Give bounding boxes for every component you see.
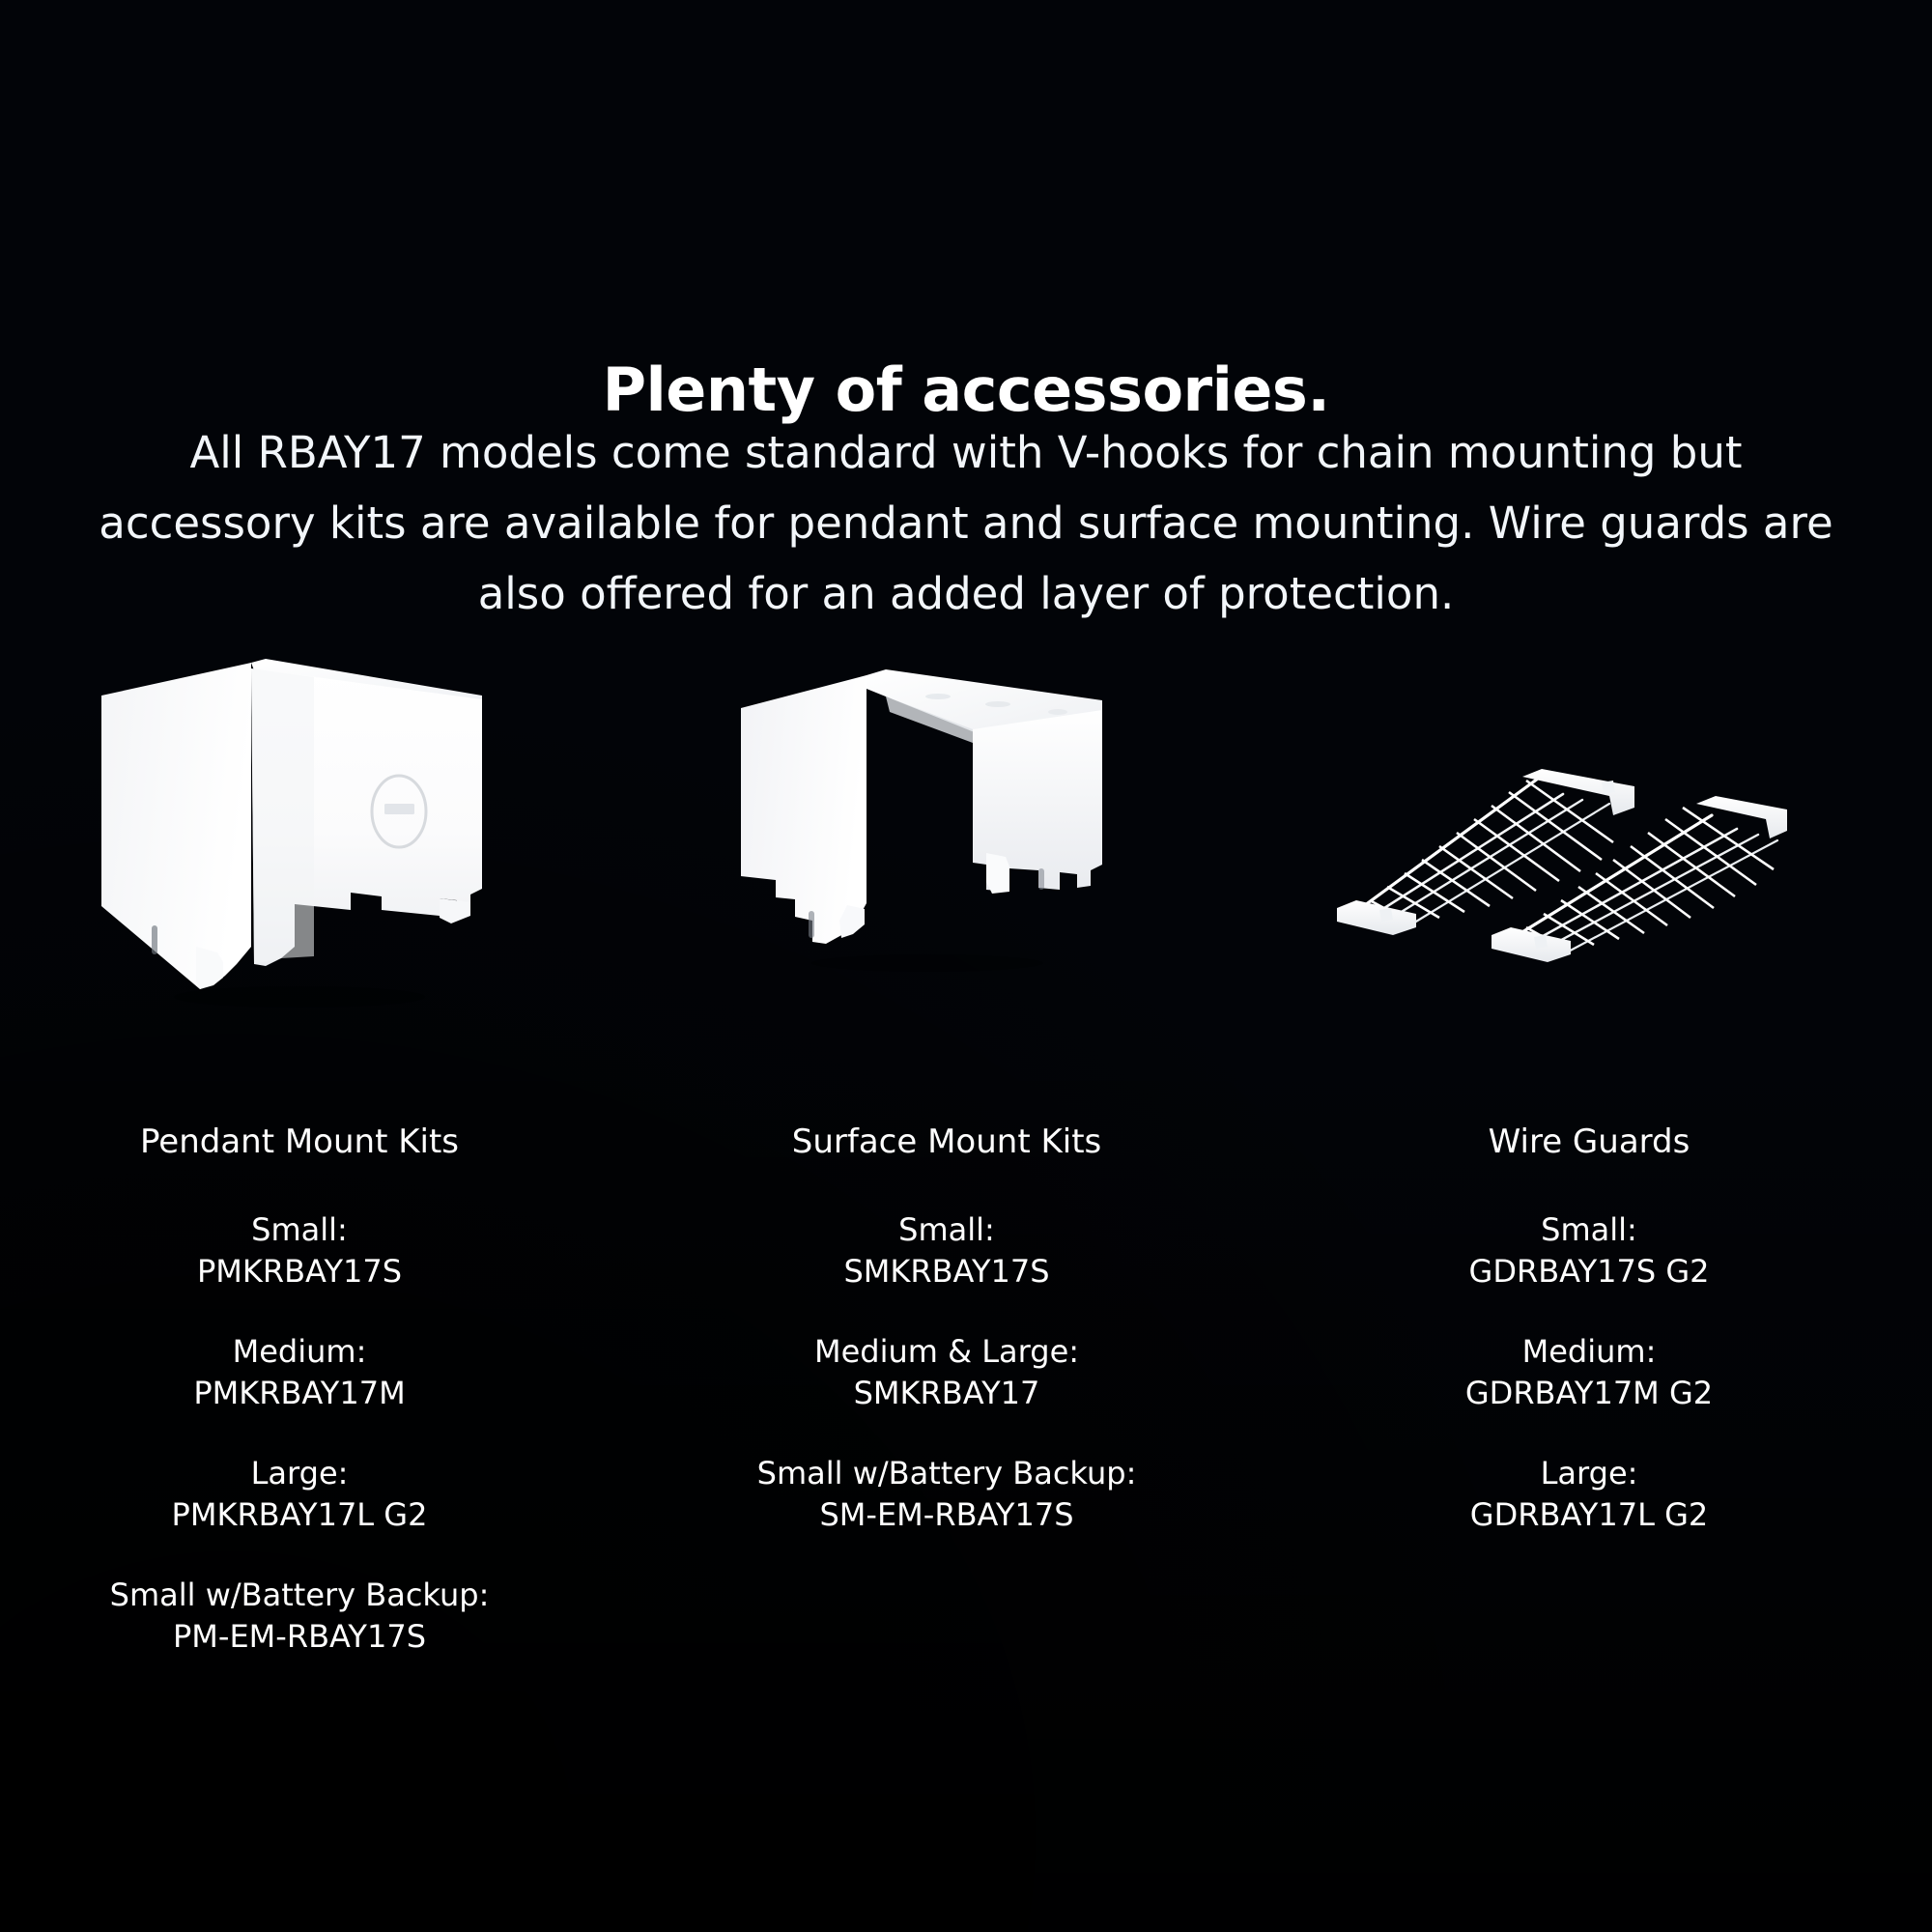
accessory-item: Large: PMKRBAY17L G2	[29, 1453, 570, 1536]
body-line-2: accessory kits are available for pendant…	[77, 488, 1855, 558]
accessory-item: Small w/Battery Backup: PM-EM-RBAY17S	[29, 1575, 570, 1658]
accessory-column-surface: Surface Mount Kits Small: SMKRBAY17S Med…	[676, 1121, 1217, 1575]
accessory-item: Small w/Battery Backup: SM-EM-RBAY17S	[676, 1453, 1217, 1536]
accessory-column-wire-guards: Wire Guards Small: GDRBAY17S G2 Medium: …	[1319, 1121, 1860, 1575]
item-size-label: Small w/Battery Backup:	[676, 1453, 1217, 1494]
column-title-surface: Surface Mount Kits	[676, 1121, 1217, 1163]
body-copy: All RBAY17 models come standard with V-h…	[77, 417, 1855, 629]
item-size-label: Large:	[1319, 1453, 1860, 1494]
item-size-label: Large:	[29, 1453, 570, 1494]
wire-guards-image	[1323, 734, 1787, 989]
surface-right-slot	[1038, 868, 1044, 890]
body-line-1: All RBAY17 models come standard with V-h…	[77, 417, 1855, 488]
accessory-item: Small: PMKRBAY17S	[29, 1209, 570, 1293]
item-sku: PMKRBAY17S	[29, 1251, 570, 1293]
accessory-item: Small: SMKRBAY17S	[676, 1209, 1217, 1293]
item-size-label: Small:	[676, 1209, 1217, 1251]
item-sku: PM-EM-RBAY17S	[29, 1616, 570, 1658]
accessory-item: Large: GDRBAY17L G2	[1319, 1453, 1860, 1536]
wire-guard-panel-2	[1492, 796, 1787, 962]
column-title-pendant: Pendant Mount Kits	[29, 1121, 570, 1163]
item-size-label: Medium:	[29, 1331, 570, 1373]
accessories-slide: Plenty of accessories. All RBAY17 models…	[0, 0, 1932, 1932]
accessory-item: Medium & Large: SMKRBAY17	[676, 1331, 1217, 1414]
accessory-item: Medium: PMKRBAY17M	[29, 1331, 570, 1414]
surface-left-slot	[809, 911, 814, 938]
accessory-item: Small: GDRBAY17S G2	[1319, 1209, 1860, 1293]
item-sku: GDRBAY17S G2	[1319, 1251, 1860, 1293]
item-sku: SMKRBAY17S	[676, 1251, 1217, 1293]
item-size-label: Medium & Large:	[676, 1331, 1217, 1373]
product-image-row	[0, 667, 1932, 1053]
pendant-side-slot	[152, 925, 157, 954]
column-title-wire-guards: Wire Guards	[1319, 1121, 1860, 1163]
item-sku: GDRBAY17M G2	[1319, 1373, 1860, 1414]
page-title: Plenty of accessories.	[0, 355, 1932, 425]
item-sku: PMKRBAY17L G2	[29, 1494, 570, 1536]
wire-guard-endcap-near-2	[1492, 927, 1571, 962]
surface-mount-kit-image	[720, 662, 1106, 1004]
item-size-label: Medium:	[1319, 1331, 1860, 1373]
pendant-mount-kit-image	[92, 657, 497, 1037]
surface-left-plate	[741, 675, 867, 944]
item-size-label: Small:	[29, 1209, 570, 1251]
item-size-label: Small w/Battery Backup:	[29, 1575, 570, 1616]
item-size-label: Small:	[1319, 1209, 1860, 1251]
pendant-knockout-slot	[384, 804, 414, 814]
item-sku: SMKRBAY17	[676, 1373, 1217, 1414]
item-sku: GDRBAY17L G2	[1319, 1494, 1860, 1536]
item-sku: PMKRBAY17M	[29, 1373, 570, 1414]
item-sku: SM-EM-RBAY17S	[676, 1494, 1217, 1536]
accessory-item: Medium: GDRBAY17M G2	[1319, 1331, 1860, 1414]
accessory-column-pendant: Pendant Mount Kits Small: PMKRBAY17S Med…	[29, 1121, 570, 1696]
wire-guard-endcap-near-1	[1337, 900, 1416, 935]
body-line-3: also offered for an added layer of prote…	[77, 558, 1855, 629]
